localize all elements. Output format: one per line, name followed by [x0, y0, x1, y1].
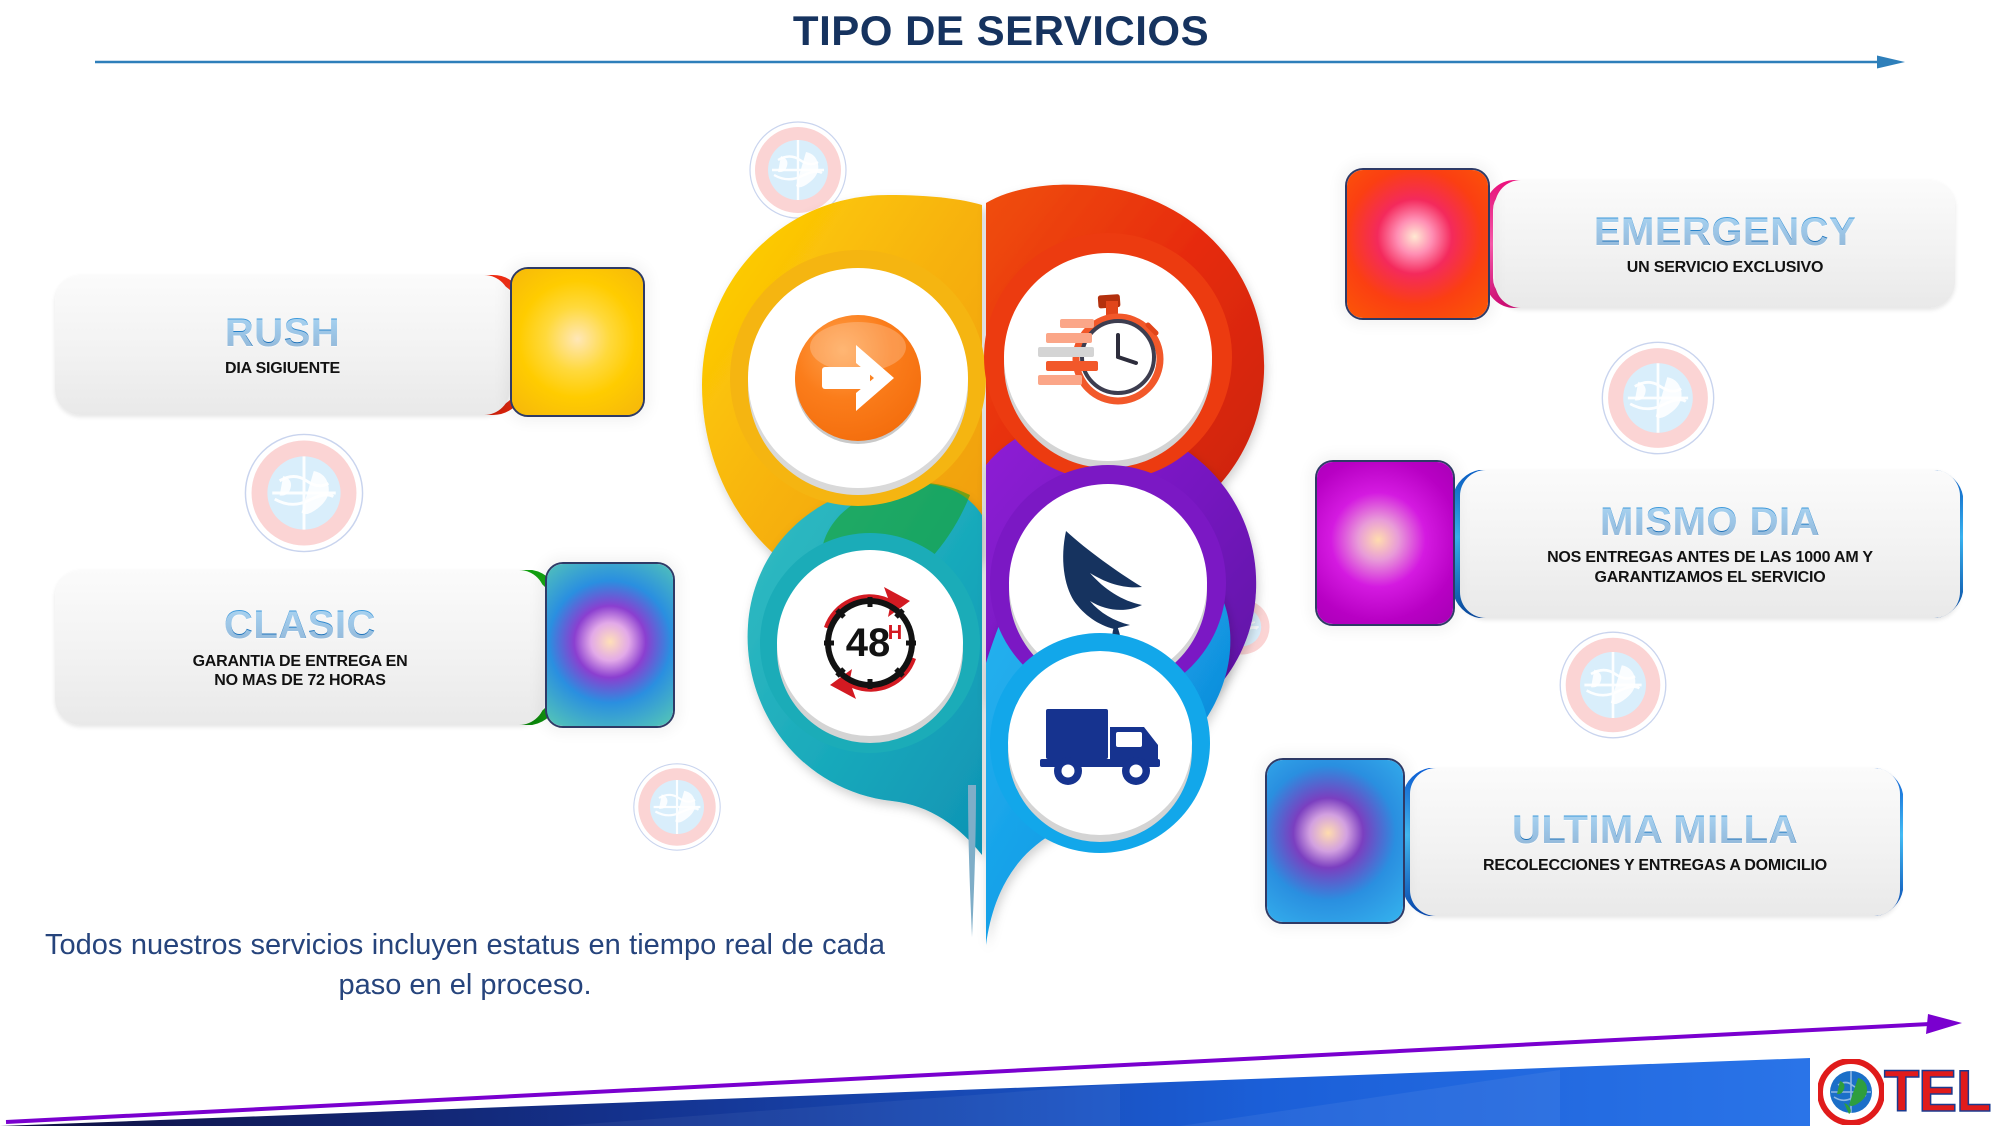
services-tree-graphic: 48 H: [630, 85, 1320, 965]
slide-canvas: TIPO DE SERVICIOS: [0, 0, 2002, 1126]
page-title: TIPO DE SERVICIOS: [0, 7, 2002, 55]
bottom-decoration: [0, 1000, 2002, 1126]
card-body: EMERGENCY UN SERVICIO EXCLUSIVO: [1495, 180, 1955, 308]
card-body: MISMO DIA NOS ENTREGAS ANTES DE LAS 1000…: [1460, 470, 1960, 618]
service-card-clasic[interactable]: CLASIC GARANTIA DE ENTREGA EN NO MAS DE …: [55, 570, 675, 725]
card-subtitle: GARANTIA DE ENTREGA EN NO MAS DE 72 HORA…: [193, 652, 408, 691]
card-body: RUSH DIA SIGIUENTE: [55, 275, 510, 415]
globe-watermark-icon: [243, 432, 365, 554]
card-subtitle: UN SERVICIO EXCLUSIVO: [1627, 258, 1823, 278]
rush-badge: [510, 267, 645, 417]
brand-name: TEL: [1884, 1063, 1991, 1121]
card-subtitle: NOS ENTREGAS ANTES DE LAS 1000 AM Y GARA…: [1547, 548, 1873, 587]
brand-logo: TEL: [1818, 1059, 1991, 1125]
ultima-milla-badge: [1265, 758, 1405, 924]
service-card-rush[interactable]: RUSH DIA SIGIUENTE: [55, 275, 645, 415]
card-subtitle: DIA SIGIUENTE: [225, 359, 340, 379]
service-card-ultima-milla[interactable]: ULTIMA MILLA RECOLECCIONES Y ENTREGAS A …: [1265, 768, 1900, 916]
header-arrow-rule: [95, 55, 1905, 69]
emergency-badge: [1345, 168, 1490, 320]
service-card-emergency[interactable]: EMERGENCY UN SERVICIO EXCLUSIVO: [1345, 180, 1955, 308]
clock-h-label: H: [888, 622, 902, 644]
footer-note: Todos nuestros servicios incluyen estatu…: [45, 925, 885, 1005]
card-subtitle: RECOLECCIONES Y ENTREGAS A DOMICILIO: [1483, 856, 1827, 876]
globe-icon: [1818, 1059, 1884, 1125]
clock-48-label: 48: [846, 621, 891, 665]
clasic-badge: [545, 562, 675, 728]
globe-watermark-icon: [1600, 340, 1716, 456]
service-card-mismo-dia[interactable]: MISMO DIA NOS ENTREGAS ANTES DE LAS 1000…: [1315, 470, 1960, 618]
tree-node-arrow: [730, 250, 986, 506]
mismo-dia-badge: [1315, 460, 1455, 626]
bottom-arrow-head: [1926, 1014, 1962, 1034]
tree-node-clock48: 48 H: [760, 533, 980, 753]
card-title: ULTIMA MILLA: [1512, 809, 1798, 851]
card-title: MISMO DIA: [1600, 501, 1820, 543]
card-title: CLASIC: [224, 604, 376, 646]
card-title: EMERGENCY: [1594, 211, 1856, 253]
globe-watermark-icon: [1558, 630, 1668, 740]
card-body: ULTIMA MILLA RECOLECCIONES Y ENTREGAS A …: [1410, 768, 1900, 916]
tree-node-stopwatch: [984, 233, 1232, 481]
tree-node-truck: [990, 633, 1210, 853]
card-body: CLASIC GARANTIA DE ENTREGA EN NO MAS DE …: [55, 570, 545, 725]
card-title: RUSH: [225, 312, 340, 354]
